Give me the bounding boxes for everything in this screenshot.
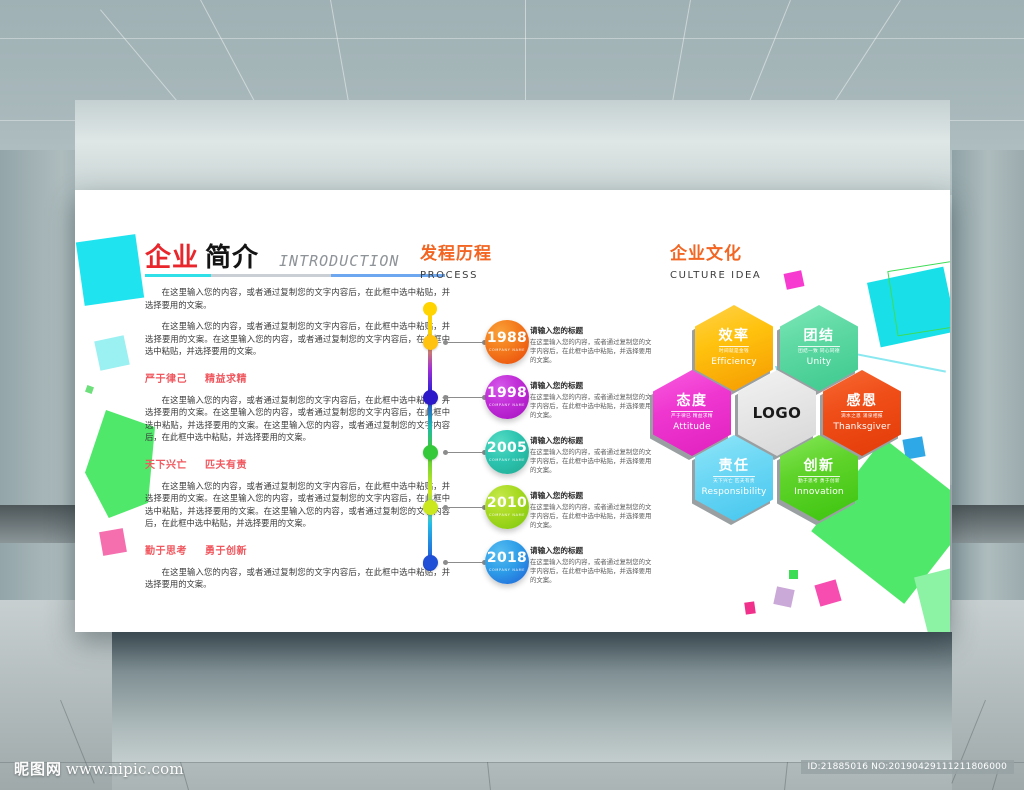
section-introduction: 企业 简介 INTRODUCTION 在这里输入您的内容，或者通过复制您的文字内…: [145, 245, 450, 591]
decor-pink-square: [99, 528, 127, 556]
timeline-node[interactable]: [423, 555, 438, 570]
timeline-node[interactable]: [423, 500, 438, 515]
decor-green-square-tiny: [85, 385, 94, 394]
introduction-title-en: INTRODUCTION: [279, 252, 399, 270]
decor-green-square-topright: [789, 570, 798, 579]
decor-cyan-square-small: [94, 335, 130, 371]
decor-lilac-square: [773, 586, 794, 607]
process-title-cn: 发程历程: [420, 245, 660, 264]
timeline-year-badge[interactable]: 1988 COMPANY NAME: [485, 320, 529, 364]
introduction-paragraph: 在这里输入您的内容，或者通过复制您的文字内容后，在此框中选中粘贴，并选择要用的文…: [145, 320, 450, 358]
hex-label-en: Innovation: [794, 488, 844, 497]
timeline-description: 在这里输入您的内容，或者通过复制您的文字内容后，在此框中选中粘贴，并选择要用的文…: [530, 448, 652, 475]
subsection-heading-b: 勇于创新: [205, 546, 247, 557]
decor-pink-square-right: [814, 579, 841, 606]
hex-label-cn: 责任: [719, 459, 750, 473]
timeline-connector: [445, 507, 485, 509]
introduction-title-row: 企业 简介 INTRODUCTION: [145, 245, 450, 271]
watermark-brand-cn: 昵图网: [14, 758, 62, 779]
subsection-heading-b: 精益求精: [205, 374, 247, 385]
timeline-connector: [445, 452, 485, 454]
timeline-heading: 请输入您的标题: [530, 435, 652, 446]
timeline-heading: 请输入您的标题: [530, 490, 652, 501]
timeline-text-block: 请输入您的标题 在这里输入您的内容，或者通过复制您的文字内容后，在此框中选中粘贴…: [530, 435, 652, 475]
hex-motto: 滴水之恩 涌泉相报: [841, 411, 883, 419]
timeline-node[interactable]: [423, 445, 438, 460]
timeline-year: 1998: [487, 386, 527, 400]
hex-label-cn: 创新: [804, 459, 835, 473]
timeline-node[interactable]: [423, 335, 438, 350]
logo-label: LOGO: [753, 404, 802, 422]
hex-label-en: Thanksgiver: [833, 423, 890, 432]
hex-motto: 严于律已 精益求精: [671, 411, 713, 419]
timeline-year-badge[interactable]: 2018 COMPANY NAME: [485, 540, 529, 584]
subsection-heading: 严于律己精益求精: [145, 370, 450, 385]
timeline-year: 2010: [487, 496, 527, 510]
watermark-url: www.nipic.com: [66, 760, 184, 778]
timeline-company-name: COMPANY NAME: [489, 513, 525, 517]
right-wall-baseboard: [952, 505, 1024, 543]
section-culture: 企业文化 CULTURE IDEA: [670, 245, 935, 281]
timeline-text-block: 请输入您的标题 在这里输入您的内容，或者通过复制您的文字内容后，在此框中选中粘贴…: [530, 490, 652, 530]
hex-label-en: Responsibility: [701, 488, 766, 497]
hex-motto: 团结一致 同心同德: [798, 346, 840, 354]
right-wall: [952, 150, 1024, 620]
introduction-title-underline: [145, 274, 445, 277]
hex-motto: 时间就是金钱: [719, 346, 749, 354]
hex-label-en: Efficiency: [711, 358, 757, 367]
subsection-body: 在这里输入您的内容，或者通过复制您的文字内容后，在此框中选中粘贴，并选择要用的文…: [145, 480, 450, 530]
process-title-en: PROCESS: [420, 270, 660, 281]
hex-label-cn: 态度: [677, 394, 708, 408]
introduction-subsection: 天下兴亡匹夫有责 在这里输入您的内容，或者通过复制您的文字内容后，在此框中选中粘…: [145, 456, 450, 530]
culture-title-en: CULTURE IDEA: [670, 270, 935, 281]
hex-motto: 勤于思考 勇于创新: [798, 476, 840, 484]
subsection-heading: 天下兴亡匹夫有责: [145, 456, 450, 471]
timeline-connector: [445, 397, 485, 399]
section-process: 发程历程 PROCESS 1988 COMPANY NAME 请输入您的标题 在…: [420, 245, 660, 572]
board-pedestal: [112, 632, 952, 762]
decor-pink-square-tiny: [744, 601, 756, 614]
subsection-heading-b: 匹夫有责: [205, 460, 247, 471]
timeline-year-badge[interactable]: 2005 COMPANY NAME: [485, 430, 529, 474]
timeline-year: 1988: [487, 331, 527, 345]
timeline-connector: [445, 342, 485, 344]
hex-label-cn: 感恩: [847, 394, 878, 408]
timeline-spine-cap-top: [423, 302, 437, 316]
timeline-description: 在这里输入您的内容，或者通过复制您的文字内容后，在此框中选中粘贴，并选择要用的文…: [530, 338, 652, 365]
hex-label-cn: 团结: [804, 329, 835, 343]
hex-label-en: Unity: [807, 358, 832, 367]
timeline-year: 2018: [487, 551, 527, 565]
timeline-description: 在这里输入您的内容，或者通过复制您的文字内容后，在此框中选中粘贴，并选择要用的文…: [530, 393, 652, 420]
timeline-text-block: 请输入您的标题 在这里输入您的内容，或者通过复制您的文字内容后，在此框中选中粘贴…: [530, 325, 652, 365]
timeline-company-name: COMPANY NAME: [489, 568, 525, 572]
timeline-text-block: 请输入您的标题 在这里输入您的内容，或者通过复制您的文字内容后，在此框中选中粘贴…: [530, 380, 652, 420]
timeline-description: 在这里输入您的内容，或者通过复制您的文字内容后，在此框中选中粘贴，并选择要用的文…: [530, 503, 652, 530]
timeline-year: 2005: [487, 441, 527, 455]
subsection-body: 在这里输入您的内容，或者通过复制您的文字内容后，在此框中选中粘贴，并选择要用的文…: [145, 394, 450, 444]
timeline-heading: 请输入您的标题: [530, 545, 652, 556]
decor-cyan-square-large: [76, 234, 144, 306]
hex-label-cn: 效率: [719, 329, 750, 343]
introduction-paragraph: 在这里输入您的内容，或者通过复制您的文字内容后，在此框中选中粘贴，并选择要用的文…: [145, 286, 450, 311]
timeline-node[interactable]: [423, 390, 438, 405]
poster-board: 企业 简介 INTRODUCTION 在这里输入您的内容，或者通过复制您的文字内…: [75, 190, 950, 632]
timeline-company-name: COMPANY NAME: [489, 403, 525, 407]
timeline-company-name: COMPANY NAME: [489, 458, 525, 462]
timeline-company-name: COMPANY NAME: [489, 348, 525, 352]
introduction-subsection: 严于律己精益求精 在这里输入您的内容，或者通过复制您的文字内容后，在此框中选中粘…: [145, 370, 450, 444]
image-id-badge: ID:21885016 NO:20190429111211806000: [801, 760, 1015, 774]
process-timeline: 1988 COMPANY NAME 请输入您的标题 在这里输入您的内容，或者通过…: [420, 307, 660, 572]
timeline-year-badge[interactable]: 2010 COMPANY NAME: [485, 485, 529, 529]
board-top-frame: [75, 100, 950, 192]
timeline-heading: 请输入您的标题: [530, 325, 652, 336]
timeline-connector: [445, 562, 485, 564]
culture-hex-cluster: 效率 时间就是金钱 Efficiency 团结 团结一致 同心同德 Unity …: [650, 305, 940, 535]
introduction-title-cn-dark: 简介: [205, 245, 259, 271]
watermark: 昵图网 www.nipic.com: [14, 758, 184, 779]
timeline-heading: 请输入您的标题: [530, 380, 652, 391]
timeline-text-block: 请输入您的标题 在这里输入您的内容，或者通过复制您的文字内容后，在此框中选中粘贴…: [530, 545, 652, 585]
timeline-description: 在这里输入您的内容，或者通过复制您的文字内容后，在此框中选中粘贴，并选择要用的文…: [530, 558, 652, 585]
subsection-heading-a: 严于律己: [145, 374, 187, 385]
timeline-year-badge[interactable]: 1998 COMPANY NAME: [485, 375, 529, 419]
hex-label-en: Attitude: [673, 423, 711, 432]
introduction-title-cn-red: 企业: [145, 245, 199, 271]
ceiling-grid-line: [0, 38, 1024, 39]
subsection-heading: 勤于思考勇于创新: [145, 542, 450, 557]
culture-title-cn: 企业文化: [670, 245, 935, 264]
introduction-subsection: 勤于思考勇于创新 在这里输入您的内容，或者通过复制您的文字内容后，在此框中选中粘…: [145, 542, 450, 591]
subsection-heading-a: 天下兴亡: [145, 460, 187, 471]
hex-motto: 天下兴亡 匹夫有责: [713, 476, 755, 484]
subsection-body: 在这里输入您的内容，或者通过复制您的文字内容后，在此框中选中粘贴，并选择要用的文…: [145, 566, 450, 591]
subsection-heading-a: 勤于思考: [145, 546, 187, 557]
